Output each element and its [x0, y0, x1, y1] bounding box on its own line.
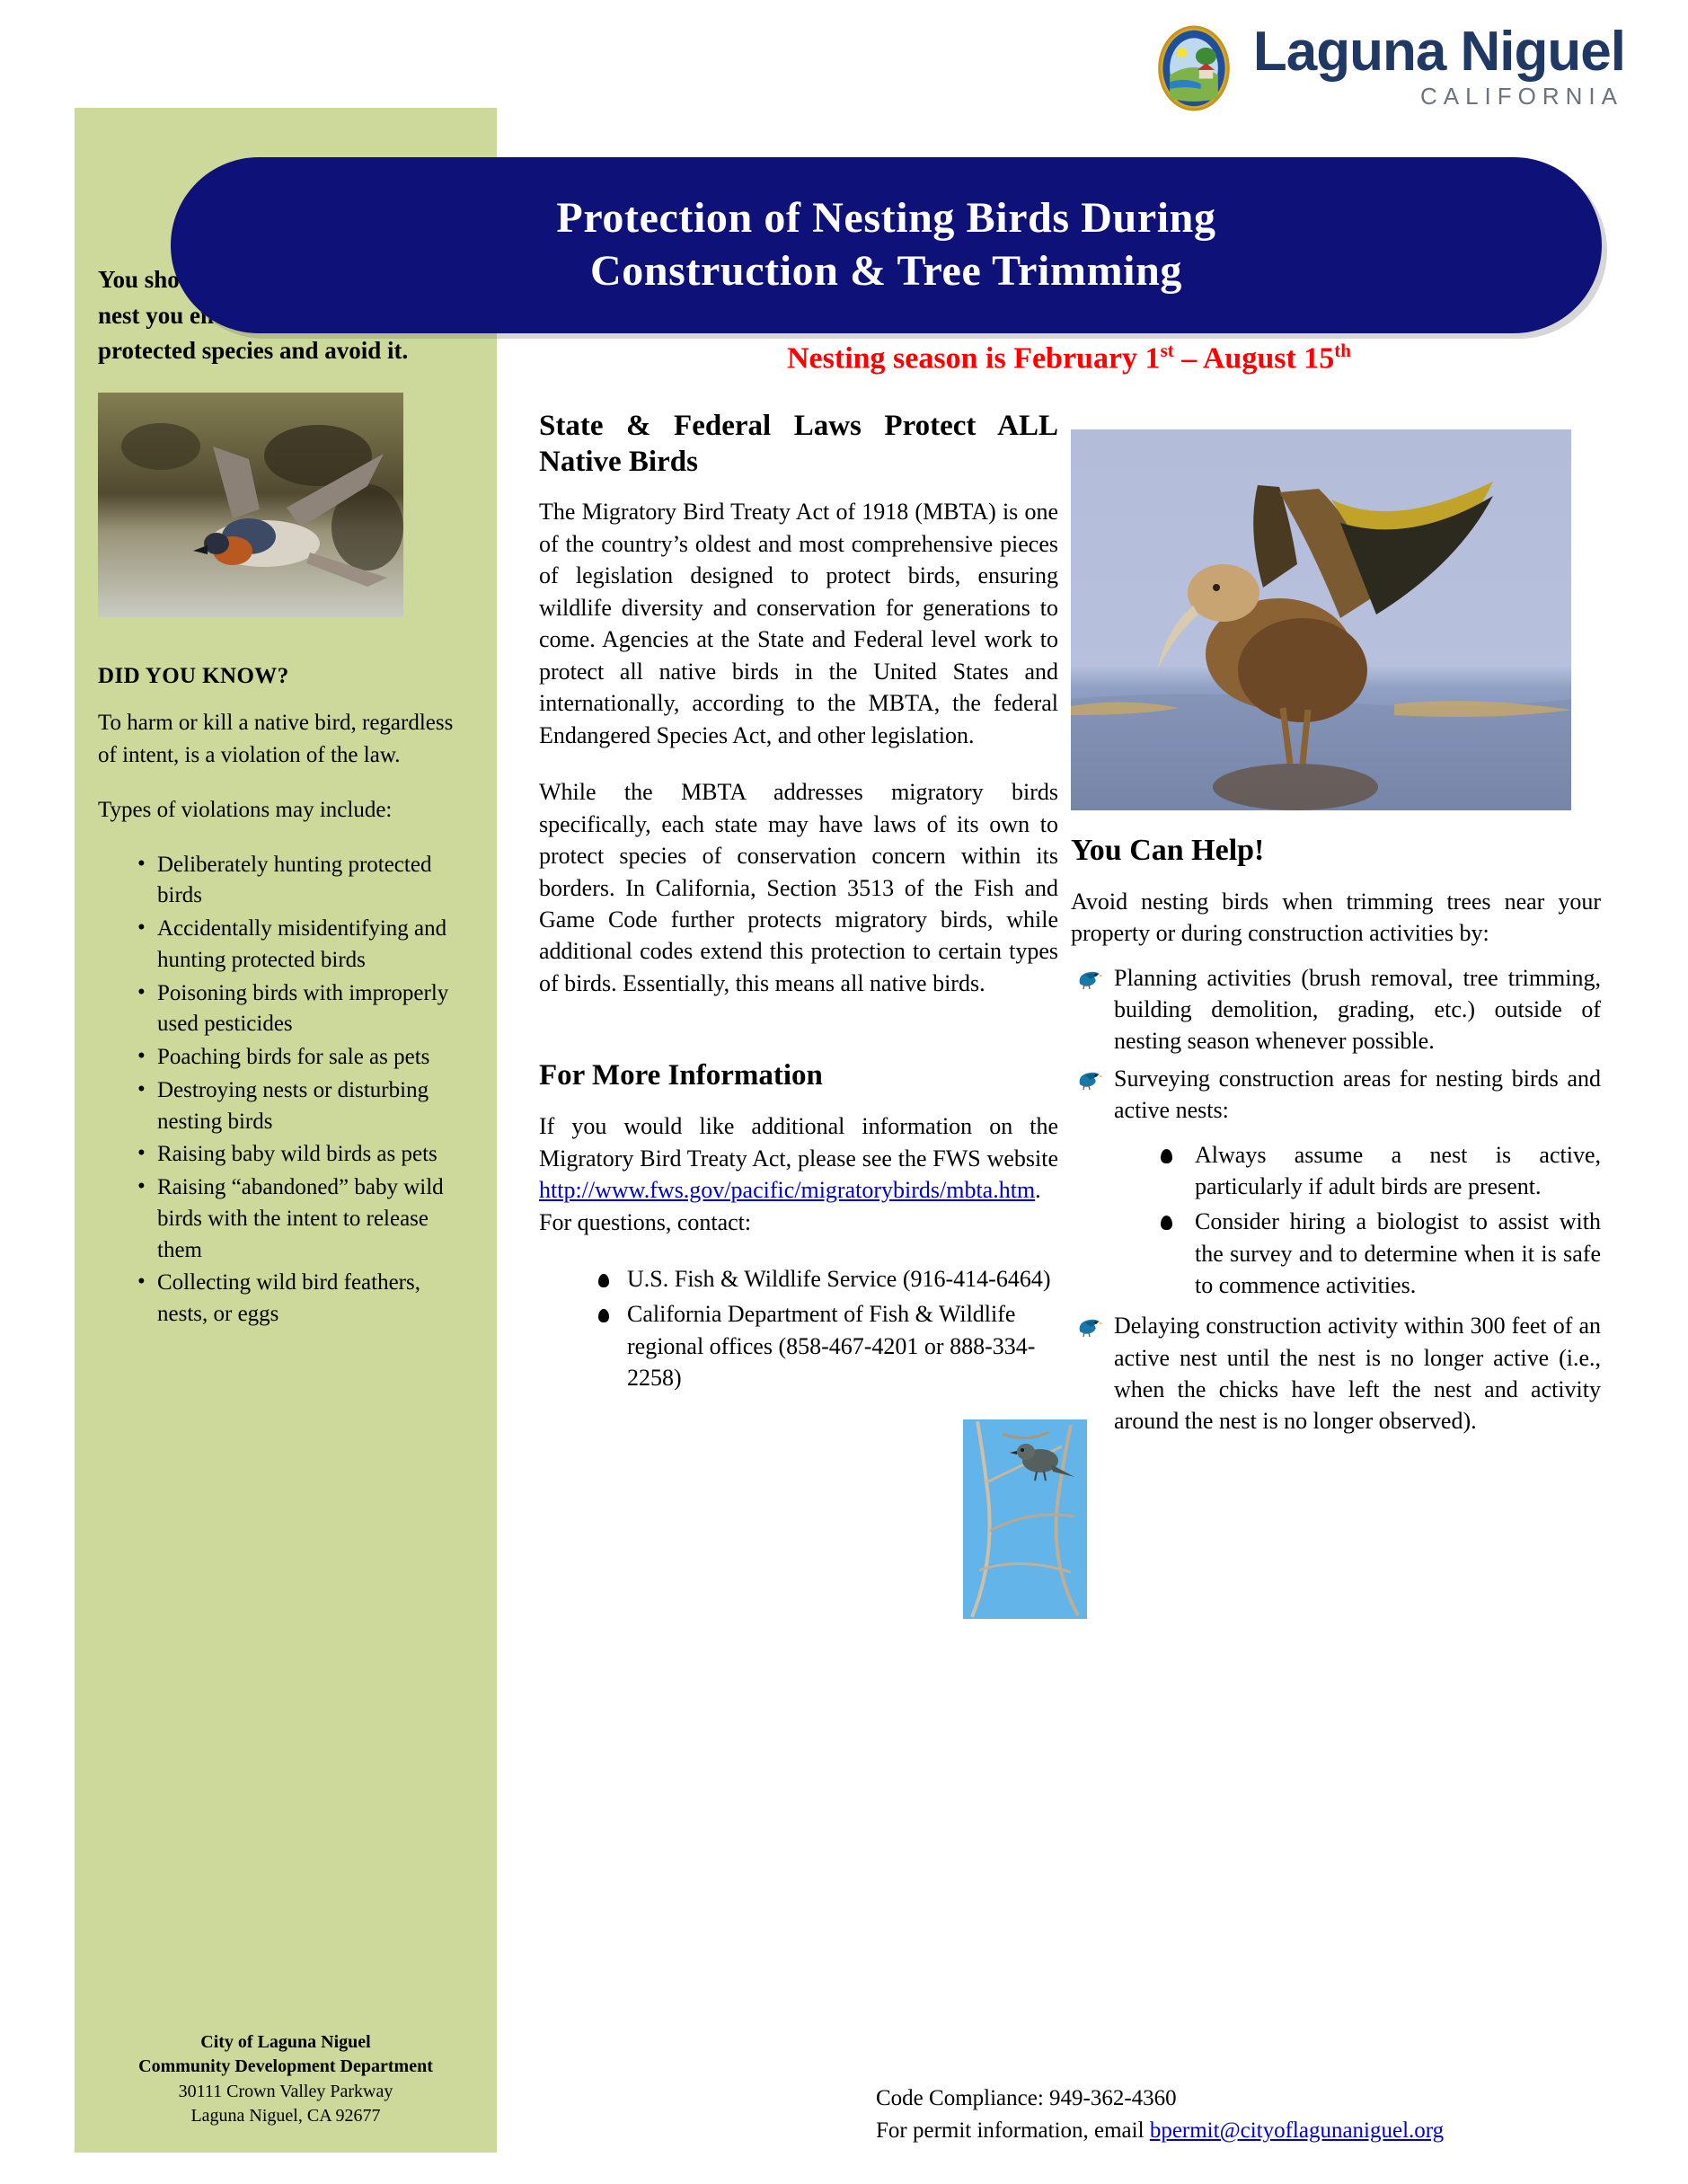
- bottom-contact-block: Code Compliance: 949-362-4360 For permit…: [876, 2082, 1444, 2147]
- list-item: Planning activities (brush removal, tree…: [1071, 962, 1601, 1057]
- page-title-banner: Protection of Nesting Birds During Const…: [171, 157, 1602, 333]
- city-logo-header: Laguna Niguel CALIFORNIA: [1151, 25, 1625, 111]
- did-you-know-heading: DID YOU KNOW?: [98, 664, 473, 689]
- code-compliance-line: Code Compliance: 949-362-4360: [876, 2082, 1444, 2115]
- logo-state-name: CALIFORNIA: [1420, 83, 1623, 111]
- list-item: Raising baby wild birds as pets: [137, 1139, 473, 1171]
- fws-website-link[interactable]: http://www.fws.gov/pacific/migratorybird…: [539, 1177, 1035, 1203]
- footer-department: Community Development Department: [75, 2055, 497, 2080]
- list-item-text: Planning activities (brush removal, tree…: [1114, 965, 1601, 1055]
- right-content-column: You Can Help! Avoid nesting birds when t…: [1071, 429, 1601, 1443]
- footer-citystatezip: Laguna Niguel, CA 92677: [75, 2104, 497, 2129]
- list-item-text: Surveying construction areas for nesting…: [1114, 1065, 1601, 1123]
- footer-street: 30111 Crown Valley Parkway: [75, 2080, 497, 2105]
- violations-intro: Types of violations may include:: [98, 794, 473, 827]
- laws-paragraph-2: While the MBTA addresses migratory birds…: [539, 776, 1058, 999]
- list-item: Poisoning birds with improperly used pes…: [137, 978, 473, 1041]
- left-sidebar: You should always assume that any nest y…: [75, 108, 497, 2153]
- page-title-line-2: Construction & Tree Trimming: [590, 245, 1182, 298]
- you-can-help-heading: You Can Help!: [1071, 834, 1601, 868]
- list-item: Destroying nests or disturbing nesting b…: [137, 1075, 473, 1138]
- page-title-line-1: Protection of Nesting Birds During: [556, 192, 1215, 245]
- more-information-paragraph: If you would like additional information…: [539, 1110, 1058, 1238]
- city-seal-icon: [1151, 25, 1237, 111]
- permit-info-line: For permit information, email bpermit@ci…: [876, 2115, 1444, 2147]
- footer-city: City of Laguna Niguel: [75, 2030, 497, 2056]
- list-item: Consider hiring a biologist to assist wi…: [1161, 1206, 1601, 1301]
- barn-swallow-photo: [98, 393, 403, 617]
- logo-city-name: Laguna Niguel: [1253, 26, 1625, 79]
- nesting-season-notice: Nesting season is February 1st – August …: [539, 340, 1599, 376]
- state-federal-laws-heading: State & Federal Laws Protect ALL Native …: [539, 409, 1058, 480]
- did-you-know-text: To harm or kill a native bird, regardles…: [98, 707, 473, 771]
- more-info-prefix: If you would like additional information…: [539, 1113, 1058, 1171]
- white-faced-ibis-photo: [1071, 429, 1571, 810]
- violations-list: Deliberately hunting protected birds Acc…: [98, 850, 473, 1331]
- nesting-season-sup-1: st: [1161, 340, 1174, 361]
- list-item-text: Delaying construction activity within 30…: [1114, 1313, 1601, 1434]
- permit-info-prefix: For permit information, email: [876, 2118, 1150, 2143]
- list-item: Delaying construction activity within 30…: [1071, 1310, 1601, 1437]
- list-item: California Department of Fish & Wildlife…: [598, 1298, 1058, 1393]
- list-item: Accidentally misidentifying and hunting …: [137, 914, 473, 977]
- list-item: Raising “abandoned” baby wild birds with…: [137, 1172, 473, 1266]
- sidebar-footer: City of Laguna Niguel Community Developm…: [75, 2030, 497, 2129]
- you-can-help-intro: Avoid nesting birds when trimming trees …: [1071, 886, 1601, 950]
- bluebird-bullet-icon: [1074, 1068, 1105, 1092]
- nesting-season-middle: – August 15: [1174, 341, 1335, 375]
- laws-paragraph-1: The Migratory Bird Treaty Act of 1918 (M…: [539, 496, 1058, 751]
- permit-email-link[interactable]: bpermit@cityoflagunaniguel.org: [1150, 2118, 1444, 2143]
- nesting-season-sup-2: th: [1334, 340, 1351, 361]
- list-item: U.S. Fish & Wildlife Service (916-414-64…: [598, 1263, 1058, 1295]
- main-content-column: State & Federal Laws Protect ALL Native …: [539, 409, 1058, 1397]
- bluebird-bullet-icon: [1074, 968, 1105, 991]
- survey-sub-list: Always assume a nest is active, particul…: [1114, 1139, 1601, 1302]
- list-item: Always assume a nest is active, particul…: [1161, 1139, 1601, 1203]
- list-item: Surveying construction areas for nesting…: [1071, 1063, 1601, 1302]
- for-more-information-heading: For More Information: [539, 1058, 1058, 1094]
- bluebird-bullet-icon: [1074, 1315, 1105, 1339]
- agency-contact-list: U.S. Fish & Wildlife Service (916-414-64…: [539, 1263, 1058, 1393]
- list-item: Poaching birds for sale as pets: [137, 1042, 473, 1074]
- list-item: Collecting wild bird feathers, nests, or…: [137, 1268, 473, 1331]
- perched-bird-photo: [963, 1419, 1087, 1619]
- you-can-help-list: Planning activities (brush removal, tree…: [1071, 962, 1601, 1437]
- nesting-season-prefix: Nesting season is February 1: [787, 341, 1161, 375]
- list-item: Deliberately hunting protected birds: [137, 850, 473, 913]
- logo-wordmark: Laguna Niguel CALIFORNIA: [1253, 26, 1625, 111]
